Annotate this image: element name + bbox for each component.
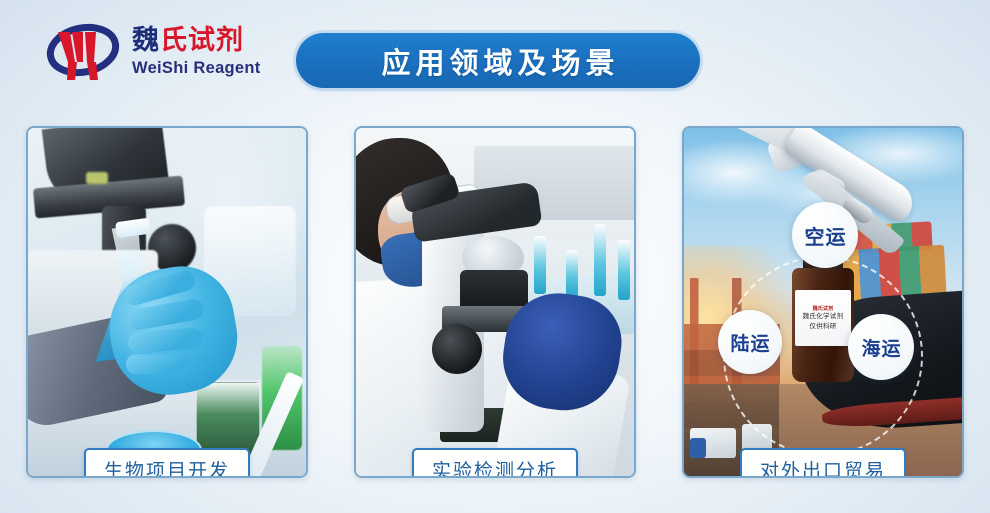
card-label-text: 实验检测分析 <box>432 461 558 478</box>
page-title-banner: 应用领域及场景 <box>296 33 700 88</box>
truck-cab <box>690 438 706 458</box>
card-photo-microscope-scientist <box>356 128 634 476</box>
microscope-focus-knob <box>432 324 482 374</box>
bubble-air-freight: 空运 <box>792 202 858 268</box>
card-photo-logistics: 魏氏试剂 魏氏化学试剂 仅供科研 空运 陆运 海运 <box>684 128 962 476</box>
glove-finger <box>126 354 193 376</box>
card-biological-project-development[interactable]: 生物项目开发 <box>26 126 308 478</box>
page-header: 魏氏试剂 WeiShi Reagent 应用领域及场景 <box>0 0 990 118</box>
weishi-w-logo-icon <box>44 22 122 84</box>
test-tube <box>594 224 606 296</box>
bubble-land-freight: 陆运 <box>718 310 782 374</box>
bottle-label-line2: 仅供科研 <box>809 323 836 331</box>
card-label-box[interactable]: 对外出口贸易 <box>740 448 906 478</box>
test-tube <box>566 250 578 298</box>
microscope-sample <box>86 172 108 184</box>
brand-logo[interactable]: 魏氏试剂 WeiShi Reagent <box>44 22 261 84</box>
card-label-box[interactable]: 实验检测分析 <box>412 448 578 478</box>
brand-name-cn-suffix: 氏试剂 <box>160 25 244 55</box>
bottle-label: 魏氏试剂 魏氏化学试剂 仅供科研 <box>795 290 851 346</box>
application-cards: 生物项目开发 <box>0 126 990 478</box>
page-title: 应用领域及场景 <box>376 40 619 82</box>
test-tube <box>534 236 546 294</box>
brand-name-cn: 魏氏试剂 <box>132 27 261 54</box>
bubble-air-freight-label: 空运 <box>804 221 847 250</box>
card-laboratory-testing-analysis[interactable]: 实验检测分析 <box>354 126 636 478</box>
card-label-text: 生物项目开发 <box>104 461 230 478</box>
card-label-text: 对外出口贸易 <box>760 461 886 478</box>
bottle-label-line1: 魏氏化学试剂 <box>803 313 844 321</box>
bottle-brand-mark: 魏氏试剂 <box>813 305 834 312</box>
brand-name-en: WeiShi Reagent <box>132 60 261 77</box>
test-tube <box>618 240 630 300</box>
brand-name-cn-prefix: 魏 <box>132 25 160 55</box>
bubble-sea-freight: 海运 <box>848 314 914 380</box>
card-label-box[interactable]: 生物项目开发 <box>84 448 250 478</box>
brand-wordmark: 魏氏试剂 WeiShi Reagent <box>132 27 261 79</box>
bubble-land-freight-label: 陆运 <box>729 329 770 356</box>
card-photo-lab-flask <box>28 128 306 476</box>
card-foreign-export-trade[interactable]: 魏氏试剂 魏氏化学试剂 仅供科研 空运 陆运 海运 对外出口贸易 <box>682 126 964 478</box>
bubble-sea-freight-label: 海运 <box>860 334 901 361</box>
